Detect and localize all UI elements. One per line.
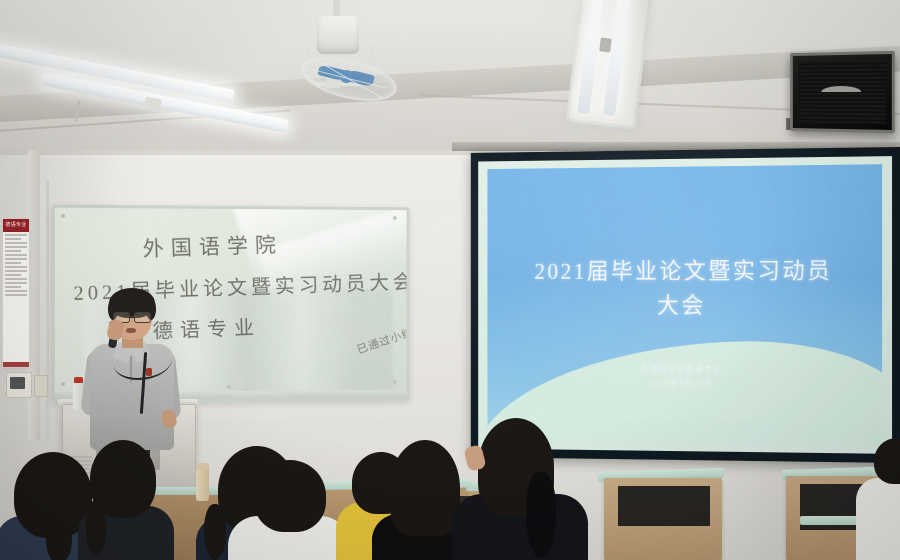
bottle-cap <box>74 377 83 383</box>
student-black-right <box>452 418 588 560</box>
wall-speaker-icon <box>790 51 895 133</box>
light-socket <box>599 37 612 52</box>
slide-title: 2021届毕业论文暨实习动员 大会 <box>487 254 882 323</box>
slide-title-line1: 2021届毕业论文暨实习动员 <box>512 254 857 289</box>
screen-surface: 2021届毕业论文暨实习动员 大会 外国语学院德语专业 2020年9月22日 <box>478 156 892 454</box>
poster-header: 德语专业 <box>3 219 29 232</box>
slide-subtitle: 外国语学院德语专业 2020年9月22日 <box>487 362 882 394</box>
poster-header-text: 德语专业 <box>3 219 29 232</box>
electrical-box-face <box>10 377 25 389</box>
presentation-slide: 2021届毕业论文暨实习动员 大会 外国语学院德语专业 2020年9月22日 <box>487 164 882 446</box>
desk-shelf-opening <box>618 486 710 526</box>
whiteboard-text-line1: 外国语学院 <box>142 229 283 263</box>
classroom-photo: 德语专业 外国语学院 2021届毕业论文暨实习动员大会 德语专业 已通过小结 <box>0 0 900 560</box>
slide-subtitle-date: 2020年9月22日 <box>487 376 882 393</box>
student-ponytail-left <box>78 440 174 560</box>
slide-title-line2: 大会 <box>512 289 857 323</box>
student-far-right-white <box>856 452 900 560</box>
wall-switch <box>34 375 48 397</box>
student-white-tee <box>228 460 350 560</box>
notice-poster: 德语专业 <box>2 218 30 368</box>
bench-seat <box>800 516 864 525</box>
projection-screen: 2021届毕业论文暨实习动员 大会 外国语学院德语专业 2020年9月22日 <box>471 147 900 463</box>
electrical-conduit <box>46 180 49 440</box>
